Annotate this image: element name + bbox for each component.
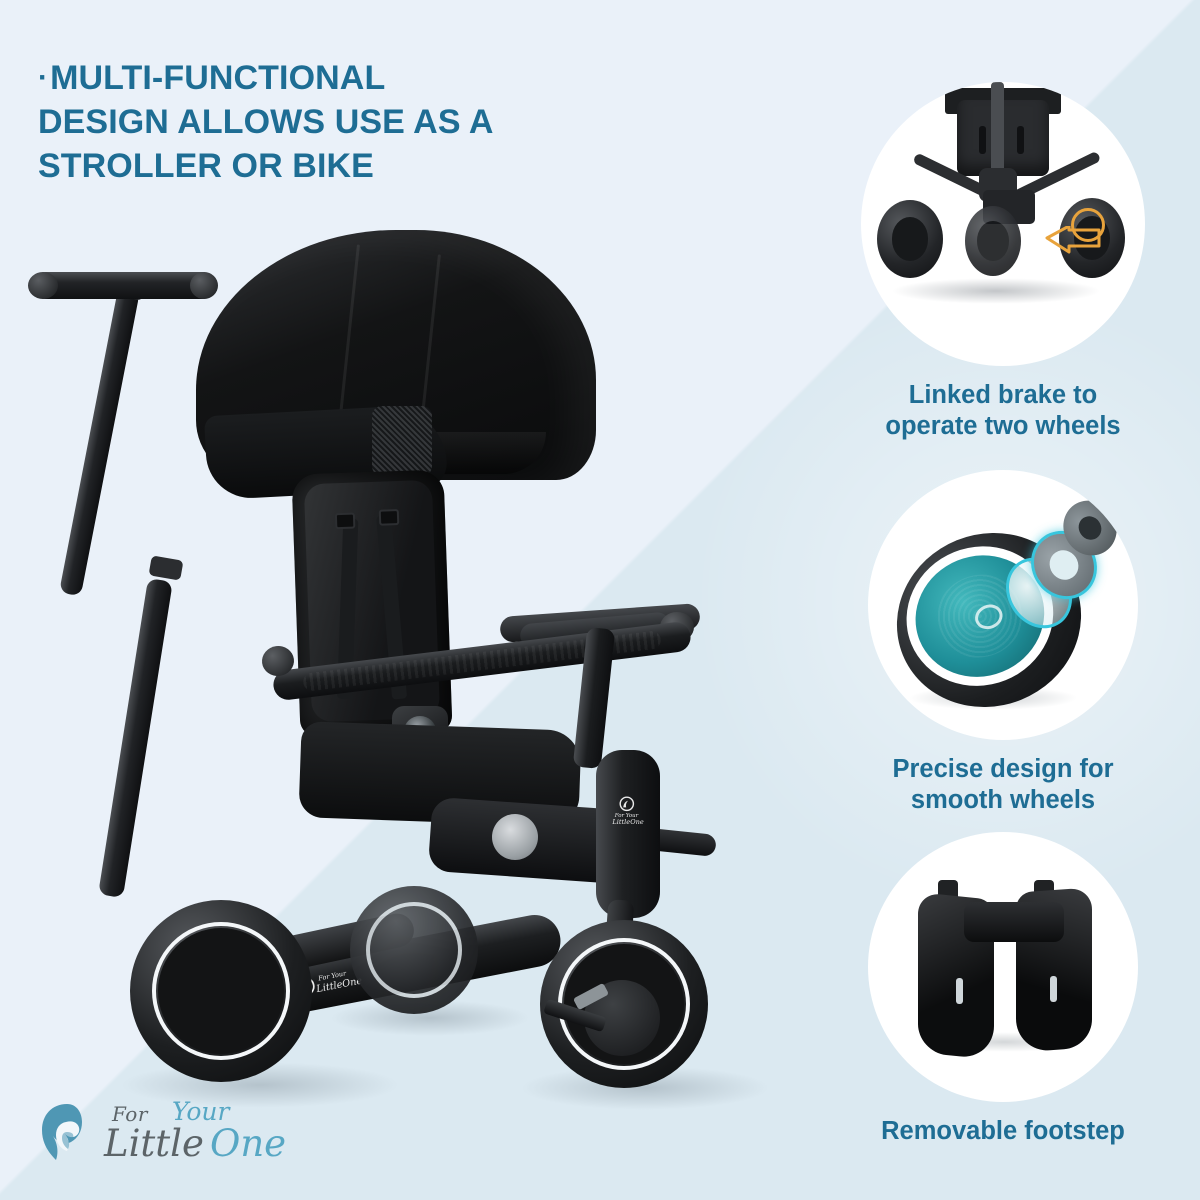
- callout-linked-brake: Linked brake to operate two wheels: [836, 82, 1170, 442]
- page-title: ·MULTI-FUNCTIONAL DESIGN ALLOWS USE AS A…: [38, 56, 598, 189]
- footstep-bridge: [964, 902, 1064, 942]
- push-handle-upper-pole: [59, 288, 140, 597]
- rear-wheel-near: [130, 900, 312, 1082]
- footstep-slot-left: [956, 978, 963, 1004]
- callout-1-wheel-centre: [965, 206, 1021, 276]
- centre-column: [991, 82, 1004, 178]
- callout-removable-footstep: Removable footstep: [836, 832, 1170, 1147]
- callout-3-caption-line-1: Removable footstep: [881, 1117, 1125, 1145]
- callout-smooth-wheels: Precise design for smooth wheels: [836, 470, 1170, 816]
- harness-slider-right: [379, 509, 400, 526]
- callout-2-image: [868, 470, 1138, 740]
- callout-2-caption: Precise design for smooth wheels: [836, 754, 1170, 816]
- brand-word-little: Little: [104, 1122, 204, 1165]
- push-handle-lower-pole: [98, 578, 173, 898]
- headline-line-2: DESIGN ALLOWS USE AS A: [38, 103, 494, 141]
- harness-slider-left: [335, 513, 356, 530]
- product-image-stroller-trike: For Your LittleOne For Your LittleOne: [0, 210, 780, 1140]
- callout-1-wheel-left: [877, 200, 943, 278]
- infographic-canvas: ·MULTI-FUNCTIONAL DESIGN ALLOWS USE AS A…: [0, 0, 1200, 1200]
- push-handle-grip-bar: [32, 272, 216, 299]
- callout-2-caption-line-1: Precise design for: [892, 755, 1113, 783]
- callout-1-shadow: [891, 278, 1101, 304]
- callout-1-caption-line-2: operate two wheels: [885, 412, 1120, 440]
- callout-2-caption-line-2: smooth wheels: [911, 786, 1095, 814]
- callout-1-image: [861, 82, 1145, 366]
- footstep-slot-right: [1050, 976, 1057, 1002]
- fold-release-button[interactable]: [492, 814, 538, 860]
- footstep-part: [912, 880, 1098, 1030]
- front-wheel: [540, 920, 708, 1088]
- canopy-mesh-window: [372, 406, 432, 476]
- brake-linkage-rod: [861, 82, 905, 105]
- callout-1-caption: Linked brake to operate two wheels: [836, 380, 1170, 442]
- svg-text:LittleOne: LittleOne: [611, 818, 643, 826]
- orange-arrow-icon: [1043, 226, 1103, 260]
- mother-and-child-icon: [36, 1102, 98, 1170]
- rear-wheel-far: [350, 886, 478, 1014]
- fork-brand-logo-icon: For Your LittleOne: [610, 794, 646, 828]
- headline-line-1: MULTI-FUNCTIONAL: [50, 59, 385, 97]
- brand-wordmark: For Your Little One: [98, 1096, 278, 1178]
- bullet-marker: ·: [38, 61, 48, 94]
- push-handle-lower-collar: [149, 555, 184, 580]
- callout-3-image: [868, 832, 1138, 1102]
- brand-logo: For Your Little One: [36, 1096, 276, 1178]
- headline-line-3: STROLLER OR BIKE: [38, 147, 374, 185]
- callout-3-caption: Removable footstep: [836, 1116, 1170, 1147]
- front-fork-head-tube: For Your LittleOne: [596, 750, 660, 918]
- push-handle-end-cap-left: [28, 272, 58, 299]
- callout-1-caption-line-1: Linked brake to: [909, 381, 1097, 409]
- brand-word-one: One: [210, 1122, 286, 1165]
- push-handle-end-cap-right: [190, 272, 218, 299]
